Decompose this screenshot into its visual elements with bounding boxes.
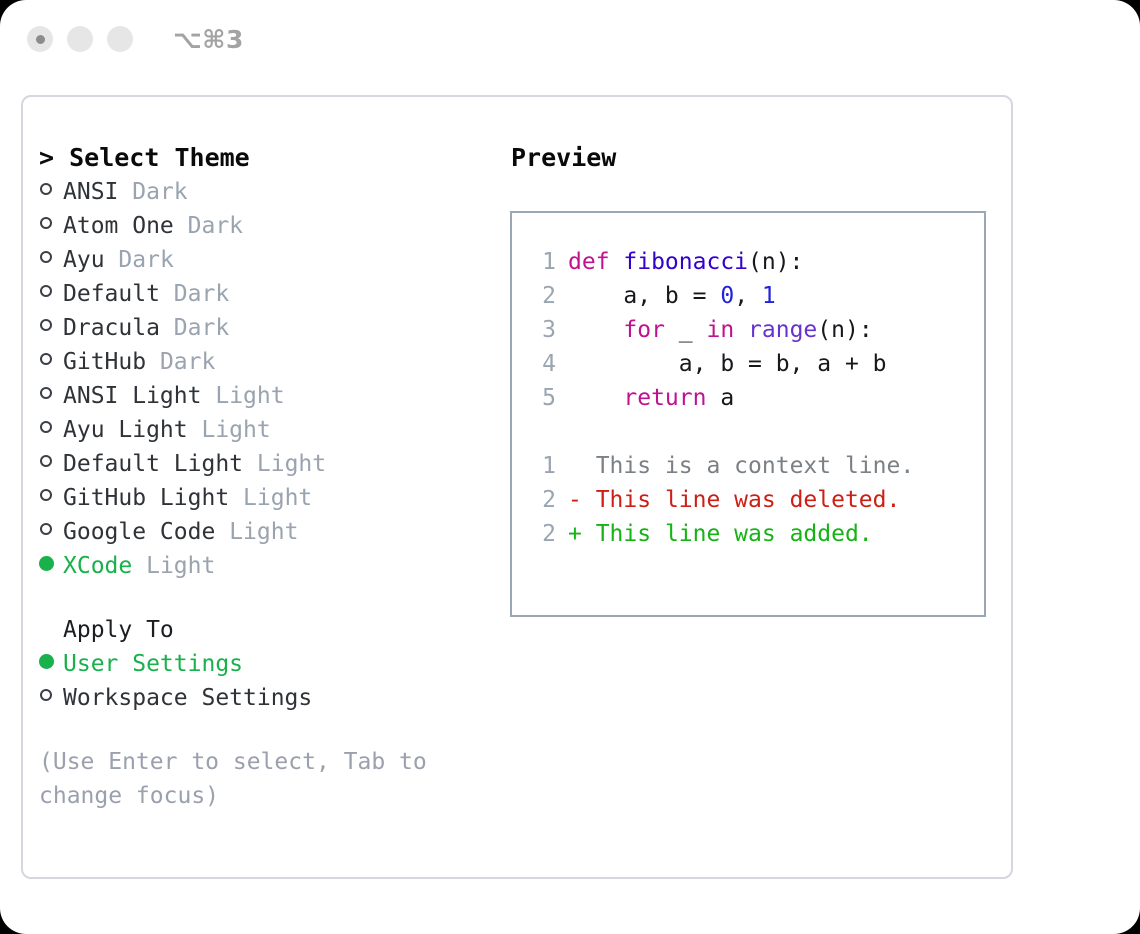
- code-sample: 1def fibonacci(n):2 a, b = 0, 13 for _ i…: [528, 245, 984, 415]
- theme-name: XCode: [63, 549, 132, 583]
- code-token: (n):: [817, 317, 872, 343]
- code-token: a, b = b, a + b: [568, 351, 887, 377]
- code-token: _: [679, 317, 707, 343]
- code-line: 3 for _ in range(n):: [528, 313, 984, 347]
- apply-to-option[interactable]: Workspace Settings: [39, 681, 501, 715]
- theme-name: ANSI Light: [63, 379, 201, 413]
- spacer: [528, 415, 984, 449]
- code-token: 0: [720, 283, 734, 309]
- radio-selected-icon: [39, 556, 54, 571]
- apply-to-option[interactable]: User Settings: [39, 647, 501, 681]
- line-number: 2: [528, 483, 556, 517]
- code-token: fibonacci: [623, 249, 748, 275]
- traffic-light-close[interactable]: [27, 26, 53, 52]
- line-number: 3: [528, 313, 556, 347]
- line-number: 2: [528, 517, 556, 551]
- diff-line: 2- This line was deleted.: [528, 483, 984, 517]
- theme-variant-tag: Light: [146, 549, 215, 583]
- theme-variant-tag: Light: [215, 379, 284, 413]
- radio-empty-icon: [40, 217, 52, 229]
- diff-text: This line was deleted.: [596, 483, 901, 517]
- spacer: [215, 515, 229, 549]
- spacer: [229, 481, 243, 515]
- app-window: ⌥⌘3 > Select Theme ANSI DarkAtom One Dar…: [0, 0, 1140, 934]
- theme-variant-tag: Dark: [160, 345, 215, 379]
- diff-text: This line was added.: [596, 517, 873, 551]
- spacer: [118, 175, 132, 209]
- spacer: [146, 345, 160, 379]
- diff-marker: +: [568, 517, 596, 551]
- radio-empty-icon: [40, 455, 52, 467]
- code-token: return: [568, 385, 720, 411]
- radio-empty-icon: [40, 689, 52, 701]
- code-token: a: [720, 385, 734, 411]
- main-panel: > Select Theme ANSI DarkAtom One DarkAyu…: [21, 95, 1013, 879]
- theme-name: Dracula: [63, 311, 160, 345]
- apply-to-options[interactable]: User SettingsWorkspace Settings: [39, 647, 501, 715]
- traffic-light-dot-icon: [36, 35, 45, 44]
- theme-variant-tag: Light: [243, 481, 312, 515]
- theme-variant-tag: Dark: [188, 209, 243, 243]
- line-number: 5: [528, 381, 556, 415]
- radio-empty-icon: [40, 387, 52, 399]
- theme-name: GitHub Light: [63, 481, 229, 515]
- preview-heading: Preview: [501, 141, 1011, 175]
- line-number: 1: [528, 449, 556, 483]
- code-content: return a: [568, 381, 734, 415]
- traffic-light-maximize[interactable]: [107, 26, 133, 52]
- code-token: for: [568, 317, 679, 343]
- theme-name: GitHub: [63, 345, 146, 379]
- theme-list-item[interactable]: GitHub Dark: [39, 345, 501, 379]
- theme-variant-tag: Dark: [174, 277, 229, 311]
- spacer: [39, 583, 501, 613]
- spacer: [132, 549, 146, 583]
- theme-variant-tag: Dark: [118, 243, 173, 277]
- code-line: 5 return a: [528, 381, 984, 415]
- theme-name: Google Code: [63, 515, 215, 549]
- apply-to-label: User Settings: [63, 647, 243, 681]
- spacer: [39, 715, 501, 745]
- theme-name: Default: [63, 277, 160, 311]
- spacer: [160, 311, 174, 345]
- radio-empty-icon: [40, 285, 52, 297]
- traffic-light-minimize[interactable]: [67, 26, 93, 52]
- theme-list-item[interactable]: Default Light Light: [39, 447, 501, 481]
- radio-empty-icon: [40, 421, 52, 433]
- radio-empty-icon: [40, 353, 52, 365]
- line-number: 4: [528, 347, 556, 381]
- radio-selected-icon: [39, 654, 54, 669]
- keyboard-shortcut-label: ⌥⌘3: [173, 25, 244, 54]
- theme-name: Atom One: [63, 209, 174, 243]
- diff-marker: -: [568, 483, 596, 517]
- title-bar: ⌥⌘3: [0, 0, 1140, 78]
- theme-list-item[interactable]: Ayu Light Light: [39, 413, 501, 447]
- code-content: a, b = 0, 1: [568, 279, 776, 313]
- theme-list-item[interactable]: ANSI Light Light: [39, 379, 501, 413]
- diff-marker: [568, 449, 596, 483]
- code-token: 1: [762, 283, 776, 309]
- theme-variant-tag: Dark: [174, 311, 229, 345]
- code-line: 1def fibonacci(n):: [528, 245, 984, 279]
- line-number: 1: [528, 245, 556, 279]
- theme-name: Ayu Light: [63, 413, 188, 447]
- apply-to-heading: Apply To: [39, 613, 501, 647]
- apply-to-label: Workspace Settings: [63, 681, 312, 715]
- code-line: 2 a, b = 0, 1: [528, 279, 984, 313]
- code-token: a, b =: [568, 283, 720, 309]
- spacer: [243, 447, 257, 481]
- spacer: [201, 379, 215, 413]
- preview-box: 1def fibonacci(n):2 a, b = 0, 13 for _ i…: [510, 211, 986, 617]
- theme-list-item[interactable]: Google Code Light: [39, 515, 501, 549]
- theme-variant-tag: Light: [229, 515, 298, 549]
- code-content: def fibonacci(n):: [568, 245, 803, 279]
- diff-text: This is a context line.: [596, 449, 915, 483]
- line-number: 2: [528, 279, 556, 313]
- spacer: [174, 209, 188, 243]
- theme-variant-tag: Light: [201, 413, 270, 447]
- panel-columns: > Select Theme ANSI DarkAtom One DarkAyu…: [23, 97, 1011, 813]
- theme-variant-tag: Light: [257, 447, 326, 481]
- keyboard-hint: (Use Enter to select, Tab to change focu…: [39, 745, 459, 813]
- spacer: [188, 413, 202, 447]
- code-content: for _ in range(n):: [568, 313, 873, 347]
- radio-empty-icon: [40, 489, 52, 501]
- spacer: [160, 277, 174, 311]
- theme-list-item[interactable]: Default Dark: [39, 277, 501, 311]
- window-controls: [27, 26, 133, 52]
- theme-list-item[interactable]: GitHub Light Light: [39, 481, 501, 515]
- code-token: def: [568, 249, 623, 275]
- radio-empty-icon: [40, 183, 52, 195]
- theme-list-column: > Select Theme ANSI DarkAtom One DarkAyu…: [39, 141, 501, 813]
- theme-variant-tag: Dark: [132, 175, 187, 209]
- theme-name: Ayu: [63, 243, 105, 277]
- select-theme-heading: > Select Theme: [39, 141, 501, 175]
- theme-list-item[interactable]: ANSI Dark: [39, 175, 501, 209]
- code-line: 4 a, b = b, a + b: [528, 347, 984, 381]
- diff-sample: 1 This is a context line.2- This line wa…: [528, 449, 984, 551]
- theme-name: Default Light: [63, 447, 243, 481]
- preview-column: Preview 1def fibonacci(n):2 a, b = 0, 13…: [501, 141, 1011, 813]
- theme-list-item[interactable]: XCode Light: [39, 549, 501, 583]
- code-content: a, b = b, a + b: [568, 347, 887, 381]
- theme-list[interactable]: ANSI DarkAtom One DarkAyu DarkDefault Da…: [39, 175, 501, 583]
- theme-list-item[interactable]: Atom One Dark: [39, 209, 501, 243]
- spacer: [105, 243, 119, 277]
- radio-empty-icon: [40, 319, 52, 331]
- theme-list-item[interactable]: Ayu Dark: [39, 243, 501, 277]
- radio-empty-icon: [40, 251, 52, 263]
- code-token: range: [748, 317, 817, 343]
- code-token: (n):: [748, 249, 803, 275]
- code-token: in: [706, 317, 748, 343]
- diff-line: 1 This is a context line.: [528, 449, 984, 483]
- theme-list-item[interactable]: Dracula Dark: [39, 311, 501, 345]
- radio-empty-icon: [40, 523, 52, 535]
- theme-name: ANSI: [63, 175, 118, 209]
- diff-line: 2+ This line was added.: [528, 517, 984, 551]
- code-token: ,: [734, 283, 762, 309]
